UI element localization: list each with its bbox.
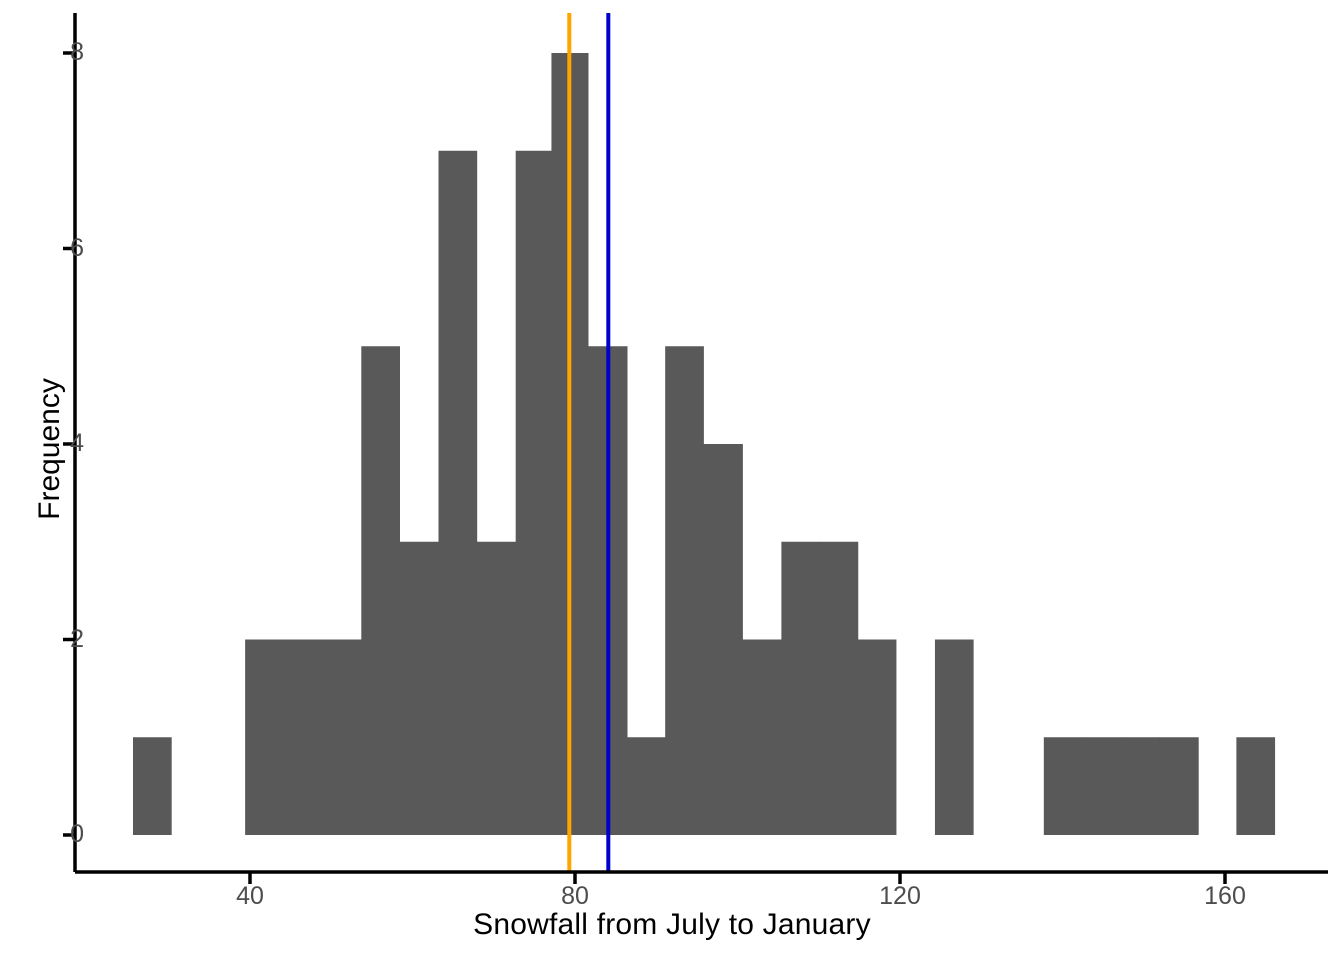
x-tick-label: 160 [1165,884,1285,909]
histogram-bar [781,542,820,835]
y-tick-label: 6 [24,236,84,261]
x-tick-label: 80 [515,884,635,909]
histogram-bar [322,640,362,836]
histogram-bar [665,346,704,835]
x-tick-label: 40 [190,884,310,909]
histogram-bar [133,737,172,835]
histogram-bar [516,151,552,835]
plot-area [0,0,1344,960]
x-axis-title: Snowfall from July to January [0,908,1344,942]
histogram-bar [935,640,974,836]
histogram-bar [439,151,478,835]
histogram-bar [400,542,440,835]
histogram-bar [245,640,284,836]
histogram-bar [1159,737,1199,835]
y-tick-label: 8 [24,40,84,65]
histogram-bar [283,640,323,836]
y-tick-label: 2 [24,627,84,652]
histogram-bar [1044,737,1083,835]
x-tick-label: 120 [840,884,960,909]
histogram-bar [858,640,897,836]
y-tick-label: 0 [24,822,84,847]
histogram-bar [627,737,666,835]
y-tick-label: 4 [24,431,84,456]
histogram-bar [742,640,782,836]
histogram-bar [1082,737,1122,835]
histogram-bar [361,346,400,835]
histogram-bar [1121,737,1160,835]
histogram-bar [477,542,517,835]
histogram-bar [820,542,859,835]
histogram-bar [703,444,743,835]
histogram-bar [1236,737,1275,835]
